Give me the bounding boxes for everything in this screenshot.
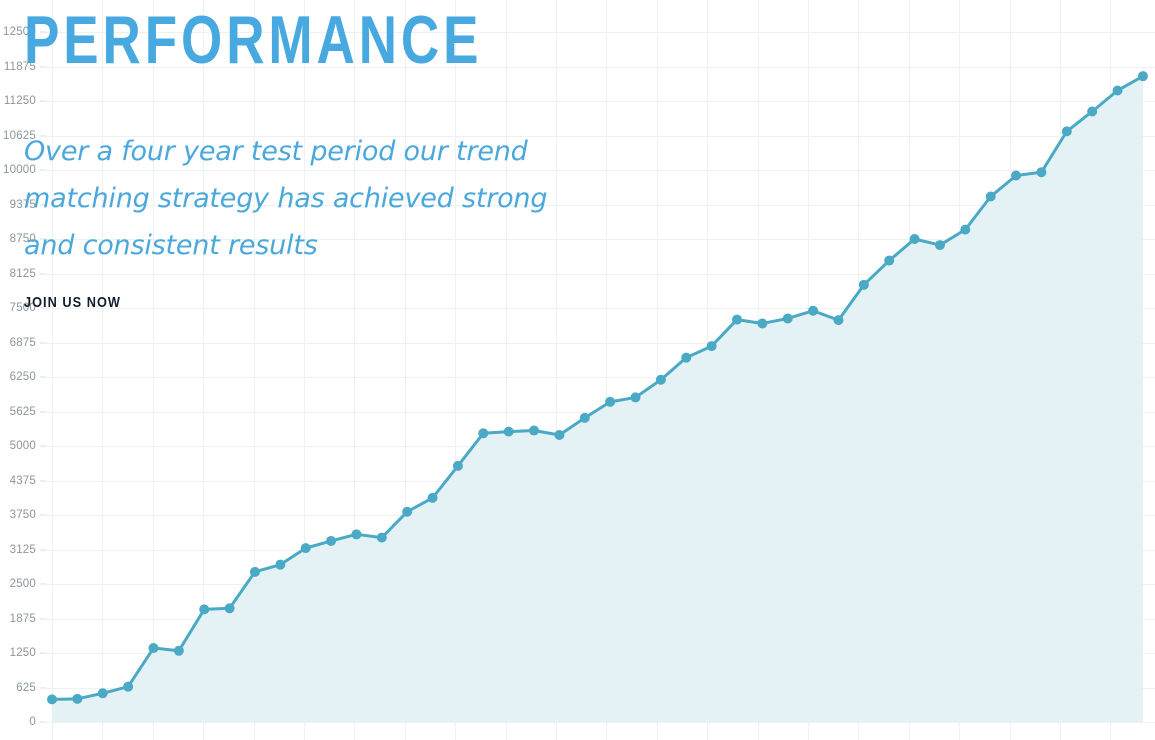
- chart-data-point: [98, 688, 108, 698]
- y-axis-tick-label: 0: [29, 716, 36, 728]
- chart-data-point: [428, 493, 438, 503]
- chart-data-point: [808, 306, 818, 316]
- chart-data-point: [351, 529, 361, 539]
- chart-area-fill: [52, 76, 1143, 722]
- chart-plot-area: [46, 0, 1155, 740]
- chart-data-point: [833, 315, 843, 325]
- y-axis-tick-label: 10625: [3, 130, 36, 142]
- chart-data-point: [174, 646, 184, 656]
- chart-data-point: [1113, 86, 1123, 96]
- chart-data-point: [72, 694, 82, 704]
- chart-data-point: [631, 392, 641, 402]
- y-axis-tick-label: 10000: [3, 164, 36, 176]
- chart-data-point: [757, 318, 767, 328]
- y-axis-tick-label: 4375: [10, 475, 36, 487]
- y-axis-tick-label: 6875: [10, 337, 36, 349]
- chart-data-point: [123, 682, 133, 692]
- y-axis: 0625125018752500312537504375500056256250…: [0, 0, 46, 740]
- chart-data-point: [377, 533, 387, 543]
- y-axis-tick-label: 625: [16, 682, 36, 694]
- chart-data-point: [250, 567, 260, 577]
- chart-data-point: [402, 507, 412, 517]
- y-axis-tick-label: 2500: [10, 578, 36, 590]
- chart-data-point: [554, 430, 564, 440]
- chart-data-point: [986, 192, 996, 202]
- chart-data-point: [783, 313, 793, 323]
- chart-data-point: [580, 413, 590, 423]
- chart-data-point: [910, 234, 920, 244]
- y-axis-tick-label: 8750: [10, 233, 36, 245]
- performance-area-chart: [46, 0, 1155, 740]
- y-axis-tick-label: 5000: [10, 440, 36, 452]
- y-axis-tick-label: 11875: [4, 61, 36, 73]
- performance-chart-page: 0625125018752500312537504375500056256250…: [0, 0, 1155, 740]
- chart-data-point: [732, 315, 742, 325]
- chart-data-point: [1087, 106, 1097, 116]
- chart-data-point: [605, 397, 615, 407]
- y-axis-tick-label: 8125: [10, 268, 36, 280]
- chart-data-point: [47, 694, 57, 704]
- chart-data-point: [884, 256, 894, 266]
- chart-data-point: [935, 240, 945, 250]
- chart-data-point: [529, 426, 539, 436]
- chart-data-point: [199, 604, 209, 614]
- chart-data-point: [453, 461, 463, 471]
- chart-data-point: [1011, 171, 1021, 181]
- chart-data-point: [478, 428, 488, 438]
- y-axis-tick-label: 11250: [4, 95, 36, 107]
- y-axis-tick-label: 1250: [10, 647, 36, 659]
- chart-data-point: [504, 427, 514, 437]
- chart-data-point: [707, 341, 717, 351]
- chart-data-point: [275, 560, 285, 570]
- y-axis-tick-label: 3125: [10, 544, 36, 556]
- y-axis-tick-label: 7500: [10, 302, 36, 314]
- chart-data-point: [148, 643, 158, 653]
- y-axis-tick-label: 3750: [10, 509, 36, 521]
- chart-data-point: [225, 603, 235, 613]
- chart-data-point: [326, 536, 336, 546]
- chart-data-point: [656, 375, 666, 385]
- chart-data-point: [1138, 71, 1148, 81]
- chart-data-point: [960, 225, 970, 235]
- y-axis-tick-label: 9375: [10, 199, 36, 211]
- y-axis-tick-label: 5625: [10, 406, 36, 418]
- chart-data-point: [859, 280, 869, 290]
- chart-data-point: [1062, 126, 1072, 136]
- chart-data-point: [1036, 167, 1046, 177]
- y-axis-tick-label: 1875: [10, 613, 36, 625]
- chart-data-point: [681, 353, 691, 363]
- y-axis-tick-label: 12500: [3, 26, 36, 38]
- chart-data-point: [301, 543, 311, 553]
- y-axis-tick-label: 6250: [10, 371, 36, 383]
